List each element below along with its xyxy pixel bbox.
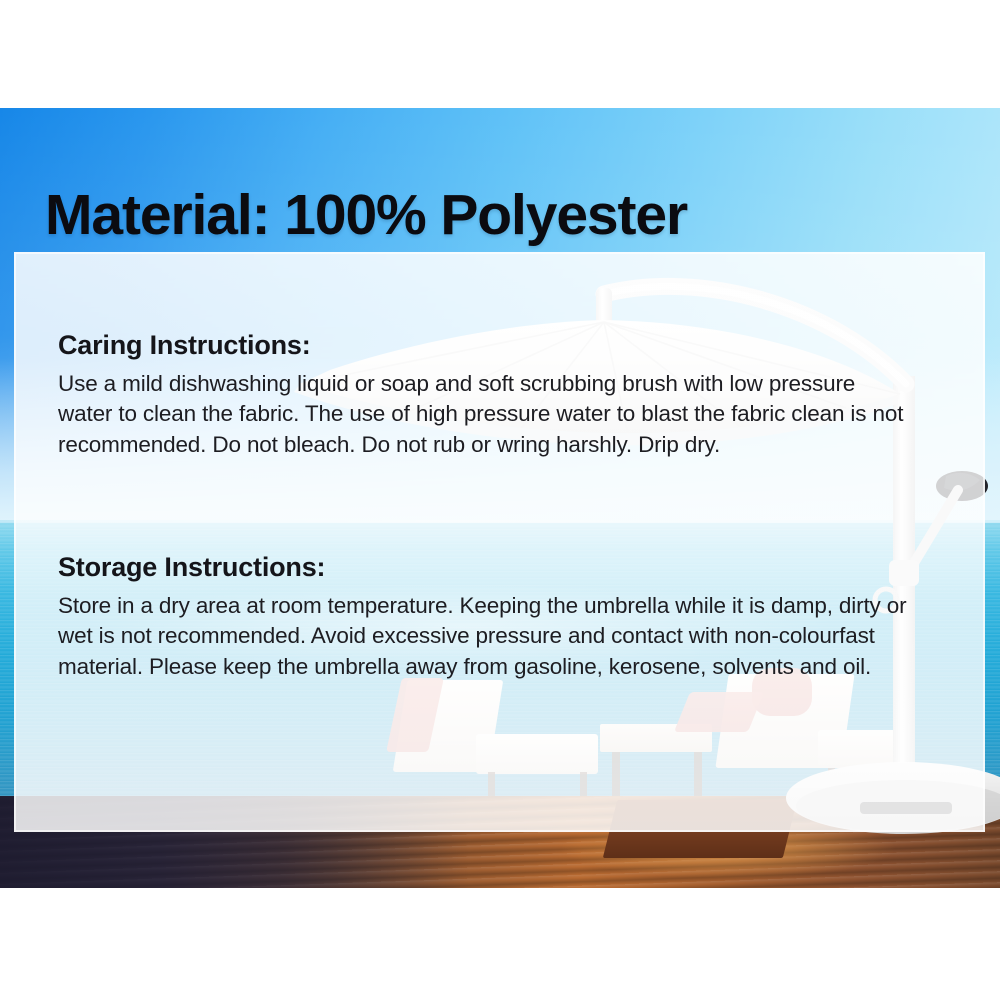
product-info-card: Material: 100% Polyester Caring Instruct… bbox=[0, 0, 1000, 1000]
storage-instructions-heading: Storage Instructions: bbox=[58, 552, 926, 582]
section-caring-instructions: Caring Instructions: Use a mild dishwash… bbox=[58, 330, 926, 460]
caring-instructions-body: Use a mild dishwashing liquid or soap an… bbox=[58, 369, 914, 460]
page-title: Material: 100% Polyester bbox=[45, 187, 687, 244]
storage-instructions-body: Store in a dry area at room temperature.… bbox=[58, 591, 914, 682]
section-storage-instructions: Storage Instructions: Store in a dry are… bbox=[58, 552, 926, 682]
caring-instructions-heading: Caring Instructions: bbox=[58, 330, 926, 360]
